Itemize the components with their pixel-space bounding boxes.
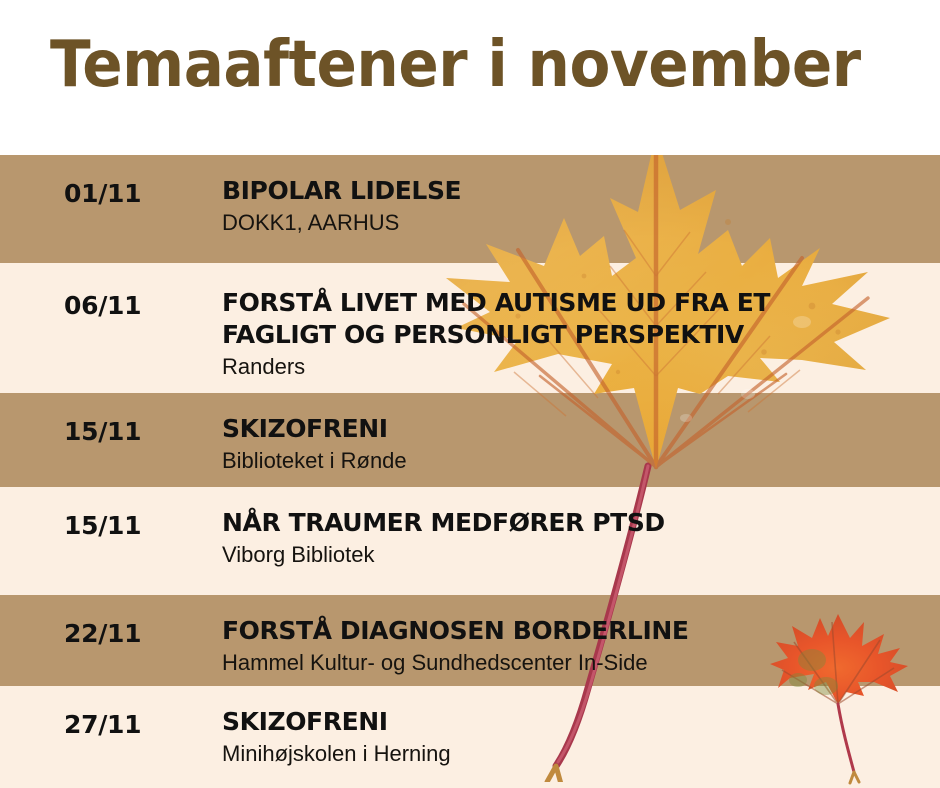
event-title: SKIZOFRENI (222, 706, 930, 738)
event-date: 01/11 (64, 179, 141, 208)
event-venue: Minihøjskolen i Herning (222, 740, 930, 768)
event-title: FORSTÅ DIAGNOSEN BORDERLINE (222, 615, 930, 647)
event-title: SKIZOFRENI (222, 413, 930, 445)
event-venue: Hammel Kultur- og Sundhedscenter In-Side (222, 649, 930, 677)
event-body: NÅR TRAUMER MEDFØRER PTSDViborg Bibliote… (222, 507, 930, 569)
event-title: FORSTÅ LIVET MED AUTISME UD FRA ET FAGLI… (222, 287, 930, 351)
event-body: SKIZOFRENIBiblioteket i Rønde (222, 413, 930, 475)
schedule-row[interactable]: 06/11FORSTÅ LIVET MED AUTISME UD FRA ET … (0, 263, 940, 393)
schedule-row[interactable]: 22/11FORSTÅ DIAGNOSEN BORDERLINEHammel K… (0, 595, 940, 686)
schedule-row[interactable]: 27/11SKIZOFRENIMinihøjskolen i Herning (0, 686, 940, 788)
event-venue: Biblioteket i Rønde (222, 447, 930, 475)
event-title: NÅR TRAUMER MEDFØRER PTSD (222, 507, 930, 539)
event-body: FORSTÅ DIAGNOSEN BORDERLINEHammel Kultur… (222, 615, 930, 677)
event-venue: Randers (222, 353, 930, 381)
event-body: SKIZOFRENIMinihøjskolen i Herning (222, 706, 930, 768)
event-date: 22/11 (64, 619, 141, 648)
event-date: 06/11 (64, 291, 141, 320)
poster-header: Temaaftener i november (0, 0, 940, 155)
event-date: 27/11 (64, 710, 141, 739)
event-body: FORSTÅ LIVET MED AUTISME UD FRA ET FAGLI… (222, 287, 930, 381)
event-venue: DOKK1, AARHUS (222, 209, 930, 237)
event-date: 15/11 (64, 511, 141, 540)
event-body: BIPOLAR LIDELSEDOKK1, AARHUS (222, 175, 930, 237)
event-poster: Temaaftener i november 01/11BIPOLAR LIDE… (0, 0, 940, 788)
schedule-row[interactable]: 15/11SKIZOFRENIBiblioteket i Rønde (0, 393, 940, 487)
schedule-row[interactable]: 01/11BIPOLAR LIDELSEDOKK1, AARHUS (0, 155, 940, 263)
event-title: BIPOLAR LIDELSE (222, 175, 930, 207)
event-venue: Viborg Bibliotek (222, 541, 930, 569)
page-title: Temaaftener i november (50, 28, 861, 102)
event-date: 15/11 (64, 417, 141, 446)
schedule-row[interactable]: 15/11NÅR TRAUMER MEDFØRER PTSDViborg Bib… (0, 487, 940, 595)
